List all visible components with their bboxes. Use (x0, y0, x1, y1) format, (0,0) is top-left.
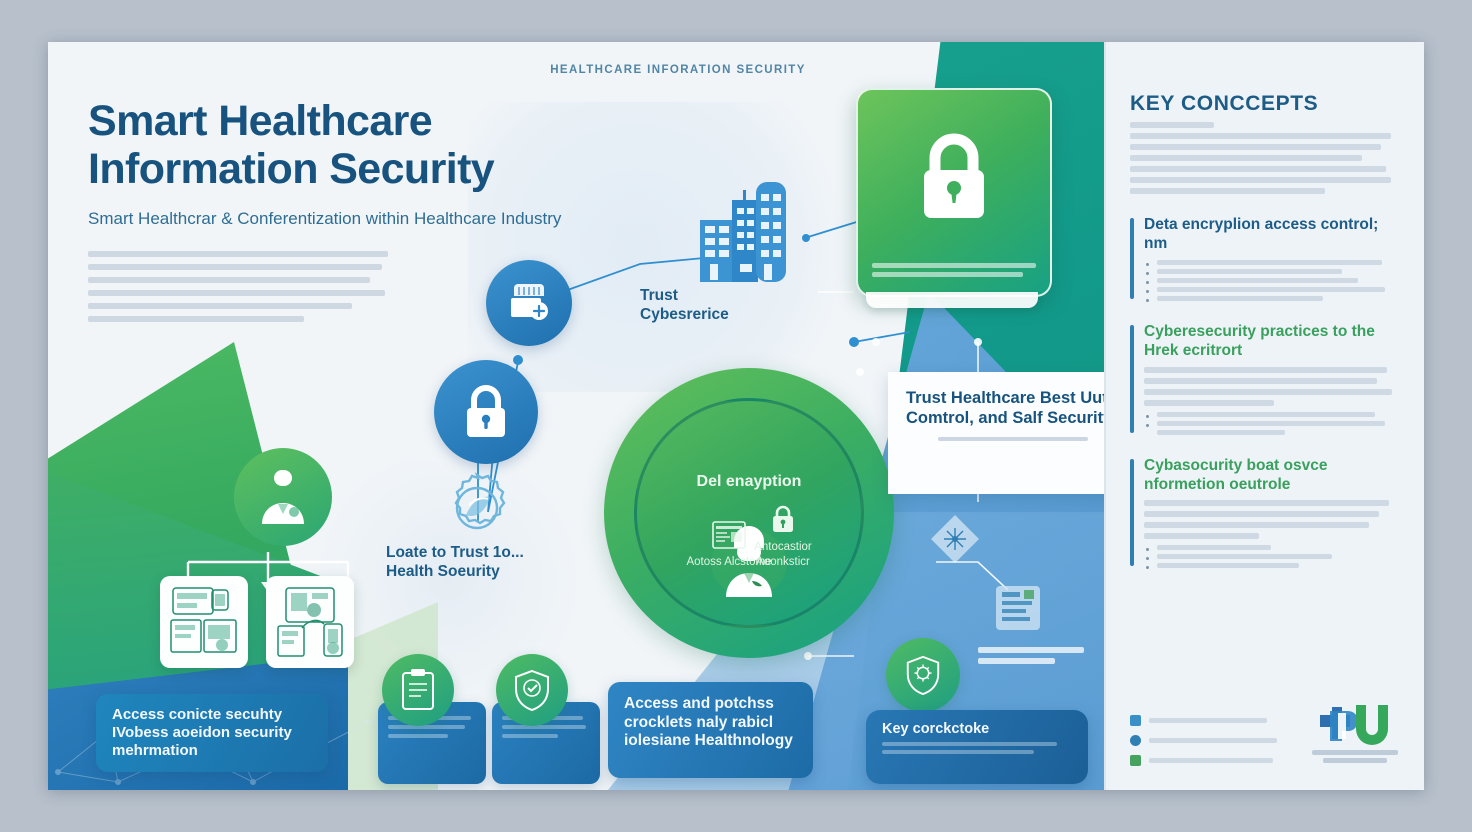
doctor-stethoscope-circle[interactable] (234, 448, 332, 546)
malware-shield-icon (903, 653, 943, 697)
sidebar-section-3-heading: Cybasocurity boat osvce nformetion oeutr… (1144, 457, 1394, 495)
padlock-icon-circle[interactable] (434, 360, 538, 464)
telehealth-icon (274, 584, 346, 660)
device-illustration-card-2[interactable] (266, 576, 354, 668)
organization-logo (1312, 701, 1398, 766)
shield-protection-icon (511, 668, 553, 712)
sidebar-section-cybersecurity-practices[interactable]: Cyberesecurity practices to the Hrek ecr… (1130, 323, 1394, 435)
list-item (1144, 554, 1394, 559)
trust-healthcare-card: Trust Healthcare Best Uut Comtrol, and S… (888, 372, 1138, 494)
central-hub: Del enayption (604, 368, 894, 658)
infographic-poster: HEALTHCARE INFORATION SECURITY Smart Hea… (48, 42, 1424, 790)
callout-key-contacts-right[interactable]: Key corckctoke (866, 710, 1088, 784)
email-icon (1130, 735, 1141, 746)
list-item (1144, 412, 1394, 417)
list-item (1144, 563, 1394, 568)
list-item (1144, 545, 1394, 550)
lock-icon (458, 381, 514, 443)
gear-globe-icon (436, 467, 518, 549)
virus-shield-icon-circle[interactable] (886, 638, 960, 712)
list-item (1144, 421, 1394, 435)
screenshot-stage: HEALTHCARE INFORATION SECURITY Smart Hea… (0, 0, 1472, 832)
sidebar-section-2-bullets (1144, 412, 1394, 435)
sidebar-section-1-bullets (1144, 260, 1394, 301)
callout-right-caption (882, 742, 1072, 754)
hub-title: Del enayption (637, 473, 861, 491)
list-item (1144, 269, 1394, 274)
clipboard-icon-circle[interactable] (382, 654, 454, 726)
right-icon-caption (978, 642, 1088, 669)
health-record-icon (504, 278, 554, 328)
key-concepts-sidebar: KEY CONCCEPTS Deta encryplion access con… (1104, 42, 1424, 790)
contact-row-phone[interactable] (1130, 715, 1277, 726)
sidebar-footer (1130, 701, 1398, 766)
page-subtitle: Smart Healthcrar & Conferentization with… (88, 207, 628, 231)
data-record-icon-circle[interactable] (486, 260, 572, 346)
contact-row-website[interactable] (1130, 755, 1277, 766)
hub-sub-right-label: Antocastior Aoonksticr (754, 541, 812, 567)
sidebar-intro-paragraph (1130, 122, 1394, 194)
phone-icon (1130, 715, 1141, 726)
encryption-lock-card (856, 88, 1052, 297)
sidebar-section-2-heading: Cyberesecurity practices to the Hrek ecr… (1144, 323, 1394, 361)
lock-card-base (866, 292, 1038, 308)
page-title: Smart Healthcare Information Security (88, 97, 628, 193)
callout-center-text: Access and potchss crocklets naly rabicl… (624, 695, 797, 751)
network-node-diamond-icon (928, 512, 982, 566)
callout-access-control-left[interactable]: Access conicte secuhty IVobess aoeidon s… (96, 694, 328, 772)
authentication-lock-icon (769, 504, 797, 534)
contact-list (1130, 715, 1277, 766)
city-buildings-icon (696, 176, 794, 286)
logo-caption (1312, 750, 1398, 763)
poster-header-title: HEALTHCARE INFORATION SECURITY (468, 64, 888, 76)
sidebar-title: KEY CONCCEPTS (1130, 92, 1394, 116)
sidebar-section-data-encryption[interactable]: Deta encryplion access control; nm (1130, 216, 1394, 301)
sidebar-section-1-heading: Deta encryplion access control; nm (1144, 216, 1394, 254)
list-item (1144, 287, 1394, 292)
shield-icon-circle[interactable] (496, 654, 568, 726)
lock-card-caption (872, 259, 1036, 281)
sidebar-section-3-bullets (1144, 545, 1394, 568)
list-item (1144, 296, 1394, 301)
sidebar-section-3-paragraph (1144, 500, 1394, 539)
intro-paragraph (88, 251, 388, 322)
callout-left-text: Access conicte secuhty IVobess aoeidon s… (112, 706, 312, 760)
list-item (1144, 278, 1394, 283)
sidebar-section-best-practice[interactable]: Cybasocurity boat osvce nformetion oeutr… (1130, 457, 1394, 569)
callout-access-center[interactable]: Access and potchss crocklets naly rabicl… (608, 682, 813, 778)
stethoscope-doctor-icon (254, 466, 312, 528)
clipboard-report-icon (398, 668, 438, 712)
hub-sub-right-group: Antocastior Aoonksticr (735, 504, 831, 569)
medical-device-icon (168, 584, 240, 660)
list-item (1144, 260, 1394, 265)
brand-logo-icon (1316, 701, 1394, 745)
sidebar-section-2-paragraph (1144, 367, 1394, 406)
page-title-line1: Smart Healthcare (88, 97, 432, 145)
contact-row-email[interactable] (1130, 735, 1277, 746)
page-title-line2: Information Security (88, 145, 494, 193)
central-hub-inner-ring: Del enayption (634, 398, 864, 628)
callout-right-text: Key corckctoke (882, 721, 1072, 738)
padlock-large-icon (911, 130, 997, 226)
trust-card-caption (906, 437, 1120, 441)
trust-health-security-label: Loate to Trust 1o... Health Soeurity (386, 544, 546, 581)
trust-card-heading: Trust Healthcare Best Uut Comtrol, and S… (906, 388, 1120, 429)
document-report-icon (992, 582, 1044, 634)
trust-cyberservice-label: Trust Cybesrerice (640, 287, 770, 324)
device-illustration-card-1[interactable] (160, 576, 248, 668)
globe-icon (1130, 755, 1141, 766)
